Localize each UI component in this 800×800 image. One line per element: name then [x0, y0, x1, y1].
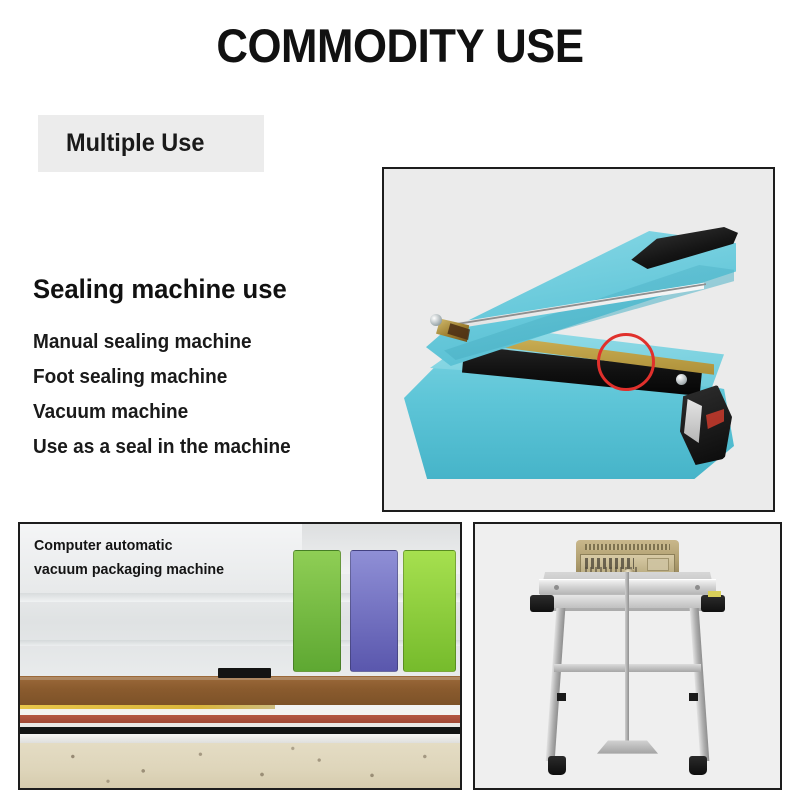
sealer-hinge-screw: [430, 314, 442, 326]
control-button-purple: [350, 550, 398, 671]
list-item: Use as a seal in the machine: [33, 430, 347, 465]
warning-sticker: [708, 591, 720, 596]
sealer-side-screw: [676, 374, 687, 385]
control-button-lime: [403, 550, 456, 671]
head-vent-slots: [585, 544, 670, 550]
multiple-use-chip-label: Multiple Use: [66, 129, 204, 158]
head-indicator-window: [647, 558, 668, 571]
page-title: COMMODITY USE: [28, 18, 772, 73]
stand-clip-right: [689, 693, 698, 701]
section-heading: Sealing machine use: [33, 274, 287, 305]
stand-clip-left: [557, 693, 566, 701]
seal-bar-end-cap-left: [530, 595, 554, 612]
control-button-green: [293, 550, 341, 671]
stand-foot-left: [548, 756, 566, 774]
stand-foot-right: [689, 756, 707, 774]
multiple-use-chip: Multiple Use: [38, 115, 264, 172]
sealing-use-list: Manual sealing machine Foot sealing mach…: [33, 325, 363, 465]
manual-sealer-illustration: [384, 169, 773, 510]
list-item: Vacuum machine: [33, 395, 347, 430]
seal-bar-screw-right: [695, 585, 700, 590]
foot-sealing-machine-photo: [473, 522, 782, 790]
vacuum-packaging-machine-photo: Computer automatic vacuum packaging mach…: [18, 522, 462, 790]
commodity-use-page: COMMODITY USE Multiple Use Sealing machi…: [0, 0, 800, 800]
red-annotation-circle: [597, 333, 655, 391]
manual-sealing-machine-photo: [382, 167, 775, 512]
list-item: Manual sealing machine: [33, 325, 347, 360]
list-item: Foot sealing machine: [33, 360, 347, 395]
caption-line-1: Computer automatic: [34, 534, 272, 558]
pedal-linkage-rod: [625, 572, 629, 744]
seal-bar-brown-strip: [20, 676, 460, 705]
granite-countertop: [20, 743, 460, 788]
seal-bar-end-cap-right: [701, 595, 725, 612]
foot-sealer-illustration: [475, 524, 780, 788]
caption-line-2: vacuum packaging machine: [34, 558, 272, 582]
vacuum-machine-illustration: Computer automatic vacuum packaging mach…: [20, 524, 460, 788]
vacuum-machine-caption: Computer automatic vacuum packaging mach…: [34, 534, 272, 582]
seal-bar-black-tab: [218, 668, 271, 679]
